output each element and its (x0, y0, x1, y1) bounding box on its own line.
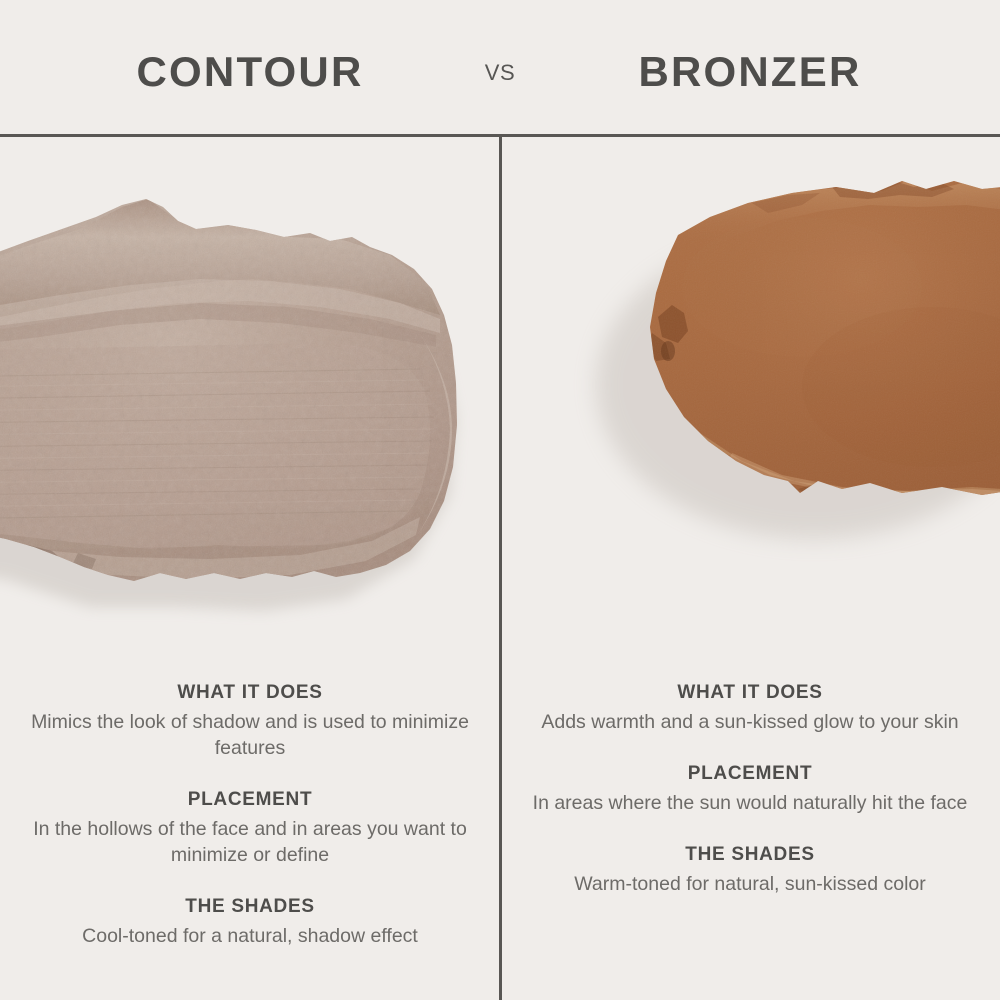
bronzer-what-it-does-block: WHAT IT DOES Adds warmth and a sun-kisse… (520, 680, 980, 735)
bronzer-the-shades-body: Warm-toned for natural, sun-kissed color (520, 871, 980, 897)
header-bar: CONTOUR VS BRONZER (0, 0, 1000, 134)
bronzer-description-column: WHAT IT DOES Adds warmth and a sun-kisse… (520, 680, 980, 897)
bronzer-the-shades-block: THE SHADES Warm-toned for natural, sun-k… (520, 842, 980, 897)
contour-description-column: WHAT IT DOES Mimics the look of shadow a… (20, 680, 480, 949)
bronzer-swatch-pane (502, 137, 1000, 637)
contour-the-shades-body: Cool-toned for a natural, shadow effect (20, 923, 480, 949)
contour-what-it-does-heading: WHAT IT DOES (20, 680, 480, 706)
page-title-bronzer: BRONZER (500, 46, 1000, 98)
contour-swatch-pane (0, 137, 499, 637)
contour-the-shades-heading: THE SHADES (20, 894, 480, 920)
contour-placement-heading: PLACEMENT (20, 787, 480, 813)
contour-what-it-does-body: Mimics the look of shadow and is used to… (20, 709, 480, 761)
bronzer-placement-heading: PLACEMENT (520, 761, 980, 787)
contour-placement-block: PLACEMENT In the hollows of the face and… (20, 787, 480, 868)
contour-cream-swatch (0, 137, 499, 637)
bronzer-placement-block: PLACEMENT In areas where the sun would n… (520, 761, 980, 816)
bronzer-the-shades-heading: THE SHADES (520, 842, 980, 868)
contour-the-shades-block: THE SHADES Cool-toned for a natural, sha… (20, 894, 480, 949)
infographic-canvas: CONTOUR VS BRONZER (0, 0, 1000, 1000)
bronzer-what-it-does-body: Adds warmth and a sun-kissed glow to you… (520, 709, 980, 735)
bronzer-cream-swatch (502, 137, 1000, 637)
contour-placement-body: In the hollows of the face and in areas … (20, 816, 480, 868)
bronzer-what-it-does-heading: WHAT IT DOES (520, 680, 980, 706)
bronzer-placement-body: In areas where the sun would naturally h… (520, 790, 980, 816)
contour-what-it-does-block: WHAT IT DOES Mimics the look of shadow a… (20, 680, 480, 761)
